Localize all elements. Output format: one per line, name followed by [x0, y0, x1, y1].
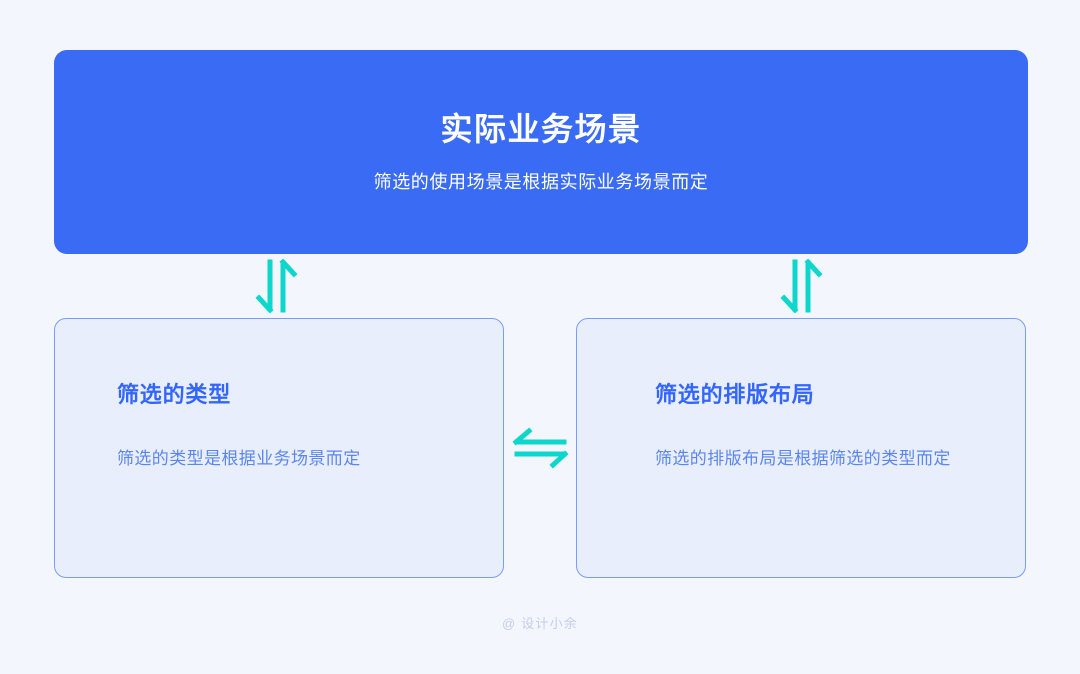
up-down-arrows-icon	[250, 259, 302, 313]
exchange-arrows-icon	[512, 424, 570, 472]
up-down-arrows-icon	[775, 259, 827, 313]
card-body-text: 筛选的排版布局是根据筛选的类型而定	[655, 445, 973, 473]
card-body-text: 筛选的类型是根据业务场景而定	[117, 445, 457, 473]
card-filter-type[interactable]: 筛选的类型 筛选的类型是根据业务场景而定	[54, 318, 504, 578]
footer-watermark: @ 设计小余	[0, 613, 1080, 632]
card-filter-layout[interactable]: 筛选的排版布局 筛选的排版布局是根据筛选的类型而定	[576, 318, 1026, 578]
header-banner-card: 实际业务场景 筛选的使用场景是根据实际业务场景而定	[54, 50, 1028, 254]
diagram-canvas: 实际业务场景 筛选的使用场景是根据实际业务场景而定	[0, 0, 1080, 674]
page-subtitle: 筛选的使用场景是根据实际业务场景而定	[374, 171, 709, 194]
card-title: 筛选的排版布局	[655, 381, 973, 409]
page-title: 实际业务场景	[440, 110, 641, 148]
card-title: 筛选的类型	[117, 381, 457, 409]
connector-right	[775, 259, 827, 313]
connector-middle	[512, 424, 570, 472]
connector-left	[250, 259, 302, 313]
